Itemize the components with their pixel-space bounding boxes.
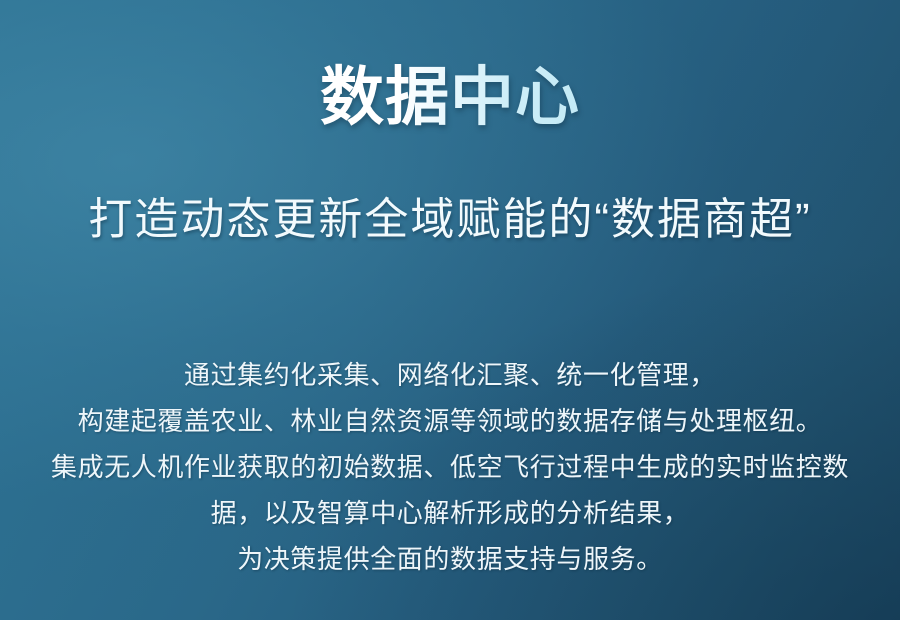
title-block: 数据中心 xyxy=(0,62,900,134)
body-line: 通过集约化采集、网络化汇聚、统一化管理， xyxy=(0,352,900,398)
body-line: 构建起覆盖农业、林业自然资源等领域的数据存储与处理枢纽。 xyxy=(0,398,900,444)
body-line: 据，以及智算中心解析形成的分析结果， xyxy=(0,490,900,536)
subtitle-block: 打造动态更新全域赋能的“数据商超” xyxy=(0,192,900,247)
page-subtitle: 打造动态更新全域赋能的“数据商超” xyxy=(88,192,811,247)
body-paragraph: 通过集约化采集、网络化汇聚、统一化管理， 构建起覆盖农业、林业自然资源等领域的数… xyxy=(0,352,900,582)
page-title: 数据中心 xyxy=(320,62,580,134)
slide-canvas: 数据中心 打造动态更新全域赋能的“数据商超” 通过集约化采集、网络化汇聚、统一化… xyxy=(0,0,900,620)
body-line: 集成无人机作业获取的初始数据、低空飞行过程中生成的实时监控数 xyxy=(0,444,900,490)
body-line: 为决策提供全面的数据支持与服务。 xyxy=(0,536,900,582)
slide-content-layer: 数据中心 打造动态更新全域赋能的“数据商超” 通过集约化采集、网络化汇聚、统一化… xyxy=(0,0,900,620)
